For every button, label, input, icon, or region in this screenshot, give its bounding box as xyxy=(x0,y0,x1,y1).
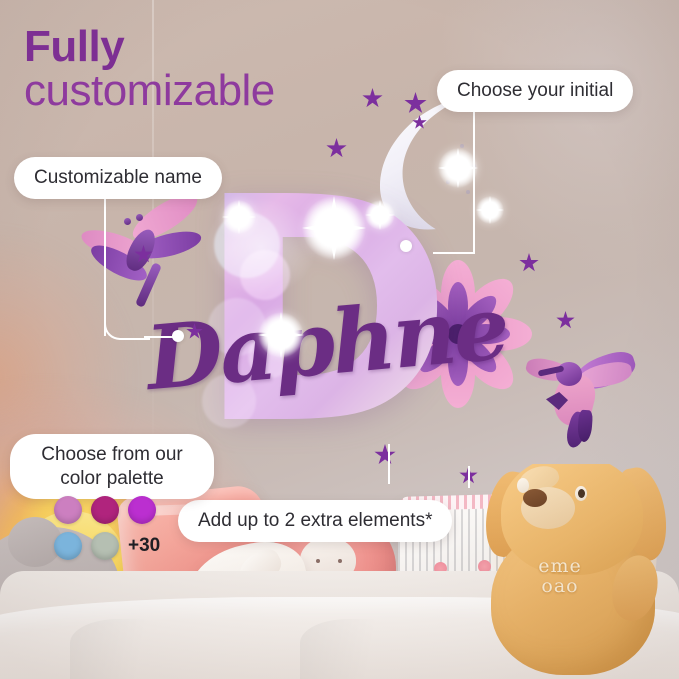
star-8-icon xyxy=(374,444,396,466)
headline-line-2: customizable xyxy=(24,66,275,116)
star-7-icon xyxy=(186,323,203,340)
swatch-magenta[interactable] xyxy=(91,496,119,524)
swatch-sky-blue[interactable] xyxy=(54,532,82,560)
callout-palette-line-1: Choose from our xyxy=(30,443,194,467)
callout-initial-endpoint-dot xyxy=(400,240,412,252)
product-marketing-image: eme oao xyxy=(0,0,679,679)
callout-extras-leader-2 xyxy=(468,466,470,488)
star-5-icon xyxy=(556,311,575,330)
sparkle-1-icon xyxy=(302,196,366,260)
swatch-orchid-pink[interactable] xyxy=(54,496,82,524)
callout-name-endpoint-dot xyxy=(172,330,184,342)
palette-row-1 xyxy=(54,496,172,524)
callout-color-palette[interactable]: Choose from our color palette xyxy=(10,434,214,499)
star-10-icon xyxy=(412,115,427,130)
sparkle-2-icon xyxy=(222,200,256,234)
sparkle-6-icon xyxy=(476,196,504,224)
headline-line-1: Fully xyxy=(24,22,124,72)
color-palette-swatches[interactable]: +30 xyxy=(54,496,172,568)
star-1-icon xyxy=(362,88,383,109)
callout-extra-elements[interactable]: Add up to 2 extra elements* xyxy=(178,500,452,542)
callout-initial-leader-elbow xyxy=(433,228,475,254)
star-4-icon xyxy=(519,253,539,273)
sparkle-3-icon xyxy=(365,200,395,230)
swatch-sage-gray[interactable] xyxy=(91,532,119,560)
callout-palette-line-2: color palette xyxy=(30,467,194,491)
callout-extras-leader-1 xyxy=(388,444,390,484)
star-3-icon xyxy=(326,138,347,159)
star-2-icon xyxy=(404,92,427,115)
palette-row-2: +30 xyxy=(54,532,172,560)
sparkle-5-icon xyxy=(438,148,478,188)
swatch-bright-purple[interactable] xyxy=(128,496,156,524)
callout-choose-initial[interactable]: Choose your initial xyxy=(437,70,633,112)
callout-customizable-name[interactable]: Customizable name xyxy=(14,157,222,199)
sparkle-4-icon xyxy=(258,312,304,358)
palette-more-count[interactable]: +30 xyxy=(128,535,160,557)
star-6-icon xyxy=(134,245,153,264)
